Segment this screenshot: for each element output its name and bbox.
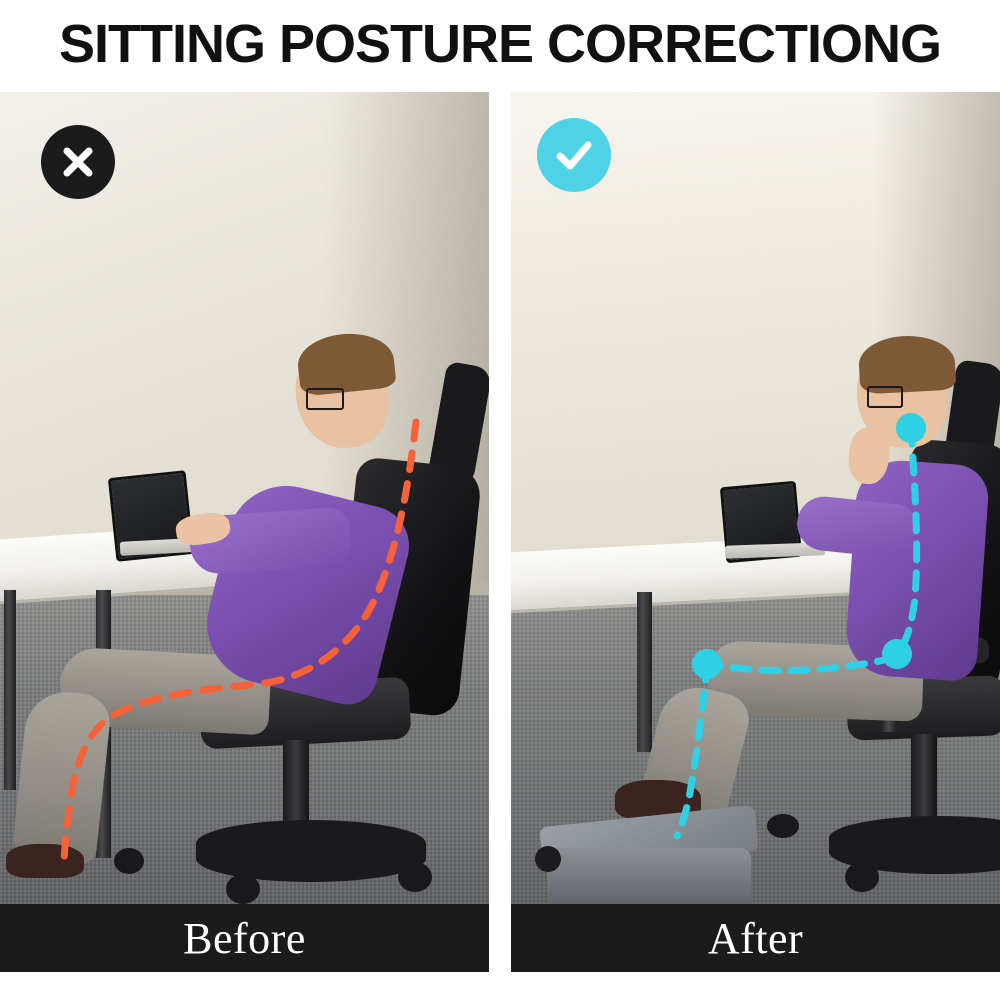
caption-before: Before [0, 904, 489, 972]
cross-badge [41, 125, 115, 199]
chair-caster [398, 862, 432, 892]
person-torso [844, 458, 991, 683]
chair-base [196, 820, 426, 882]
person-glasses [867, 386, 903, 408]
panel-after: After [511, 92, 1000, 972]
chair-caster [845, 862, 879, 892]
panel-before: Before [0, 92, 489, 972]
check-badge [537, 118, 611, 192]
footrest-frame [547, 848, 751, 904]
page-title: SITTING POSTURE CORRECTIONG [0, 0, 1000, 88]
desk-leg [637, 592, 652, 752]
person-shoe [6, 844, 84, 878]
caption-after-label: After [708, 913, 803, 964]
photo-after [511, 92, 1000, 904]
person-glasses [306, 388, 344, 410]
chair-caster [114, 848, 144, 874]
chair-caster [226, 874, 260, 904]
poster: SITTING POSTURE CORRECTIONG [0, 0, 1000, 1000]
caption-after: After [511, 904, 1000, 972]
chair-caster [767, 814, 799, 838]
desk-leg [4, 590, 16, 790]
photo-before [0, 92, 489, 904]
check-icon [552, 133, 596, 177]
cross-icon [58, 142, 98, 182]
footrest-adjust-knob[interactable] [535, 846, 561, 872]
panel-divider [489, 92, 511, 972]
caption-before-label: Before [183, 913, 306, 964]
